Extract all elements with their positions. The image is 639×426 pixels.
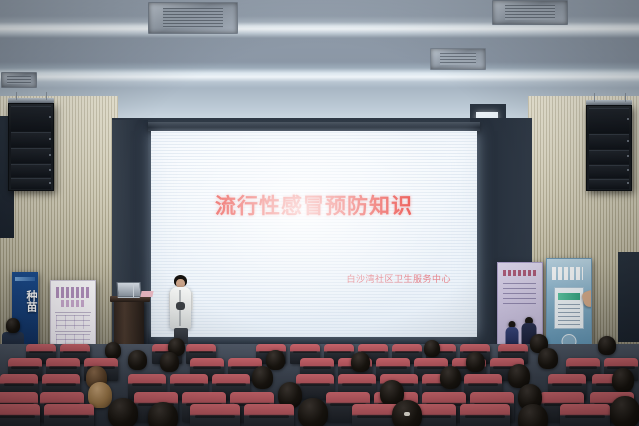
attendee-head <box>266 350 285 370</box>
banner-blue-text: 种苗 <box>12 290 38 312</box>
microphone-stand <box>133 283 134 297</box>
speaker-rod-left-b <box>46 92 47 100</box>
speaker-array-right <box>586 105 632 191</box>
attendee-head <box>598 336 616 355</box>
projection-screen: 流行性感冒预防知识 白沙湾社区卫生服务中心 <box>151 131 477 337</box>
podium-papers <box>140 291 153 297</box>
teal-leaflet-highlight <box>558 293 580 300</box>
podium <box>114 299 144 349</box>
slide-title: 流行性感冒预防知识 <box>151 190 477 220</box>
seat <box>460 404 510 426</box>
teal-banner-headline <box>552 267 583 280</box>
poster-subheadline <box>61 300 86 307</box>
attendee-head <box>160 352 179 372</box>
attendee-head <box>612 368 634 392</box>
attendee-head <box>105 342 121 359</box>
doorway-far-right <box>618 252 639 342</box>
banner-blue-header-band <box>15 277 35 281</box>
teal-banner-leaflet <box>554 287 584 329</box>
seat <box>560 404 610 426</box>
ceiling-ac-vent-2 <box>430 48 486 70</box>
attendee-hair-clip <box>404 412 410 416</box>
speaker-rod-left-a <box>16 92 17 100</box>
speaker-rod-right-a <box>594 93 595 102</box>
attendee-head <box>252 366 273 389</box>
speaker-array-left <box>8 103 54 191</box>
attendee-head <box>148 402 178 426</box>
attendee-head <box>538 348 558 369</box>
purple-banner-bodytext <box>503 283 536 307</box>
ceiling-ac-vent-1 <box>148 2 238 34</box>
seat <box>190 404 240 426</box>
purple-banner-headline <box>503 270 536 276</box>
attendee-head <box>424 340 440 357</box>
seat <box>0 404 40 426</box>
banner-teal-right <box>546 258 592 354</box>
attendee-head <box>440 366 461 389</box>
ceiling-ac-vent-3 <box>492 0 568 25</box>
banner-poster-left <box>50 280 96 354</box>
attendee-head <box>466 352 485 372</box>
attendee-front-left-head <box>6 318 20 333</box>
ceiling-ac-vent-4 <box>1 72 37 88</box>
lecture-hall-photo: 流行性感冒预防知识 白沙湾社区卫生服务中心 种苗 <box>0 0 639 426</box>
laptop-screen <box>116 282 141 297</box>
poster-headline <box>56 287 90 298</box>
poster-table <box>56 315 90 329</box>
projector-screen-housing <box>148 122 480 131</box>
poster-divider-2 <box>55 331 91 332</box>
attendee-head <box>610 396 639 426</box>
attendee-head <box>298 398 328 426</box>
seat <box>244 404 294 426</box>
attendee-head <box>108 398 138 426</box>
seat <box>44 404 94 426</box>
attendee-head <box>128 350 147 370</box>
attendee-head <box>351 352 370 372</box>
presenter-hands-microphone <box>176 302 185 310</box>
teal-leaflet-text <box>558 304 580 325</box>
poster-divider-1 <box>55 312 91 313</box>
speaker-rod-right-b <box>625 93 626 102</box>
slide-subtitle: 白沙湾社区卫生服务中心 <box>346 272 451 285</box>
attendee-head <box>518 404 548 426</box>
